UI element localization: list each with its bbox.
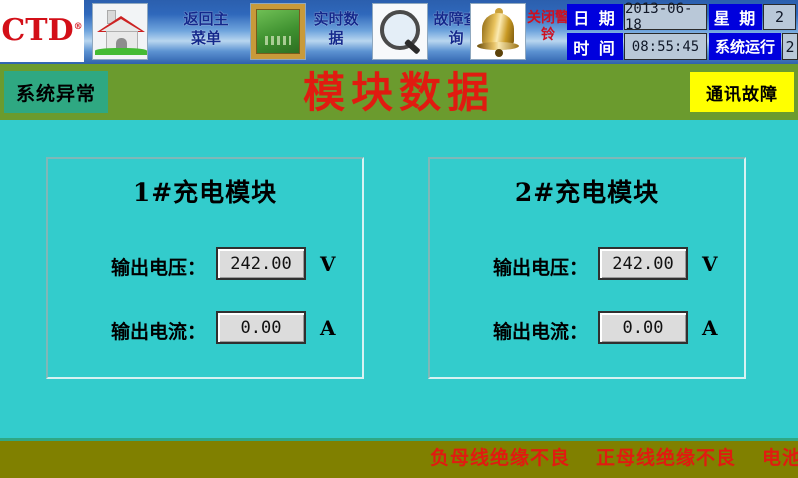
module-1-current-unit: A (320, 316, 336, 340)
logo-text: CTD® (1, 16, 82, 46)
module-1-current-value[interactable]: 0.00 (216, 311, 306, 344)
time-label: 时 间 (567, 33, 623, 60)
board-scribble (265, 36, 291, 45)
module-1-voltage-unit: V (320, 252, 336, 276)
module-2-current-unit: A (702, 316, 718, 340)
alarm-item: 电池 (762, 447, 798, 469)
module-2-voltage-label: 输出电压： (468, 253, 588, 280)
module-1-voltage-row: 输出电压： 242.00 V (48, 247, 362, 283)
module-1-voltage-value[interactable]: 242.00 (216, 247, 306, 280)
silence-alarm-label[interactable]: 关闭警铃 (524, 10, 572, 44)
date-value: 2013-06-18 (624, 4, 707, 30)
house-roof-inner (101, 19, 141, 31)
alarm-item: 负母线绝缘不良 (430, 447, 570, 469)
house-icon (93, 4, 147, 59)
home-button[interactable] (92, 3, 148, 60)
bell-icon (471, 4, 525, 59)
charger-module-1-panel: 1#充电模块 输出电压： 242.00 V 输出电流： 0.00 A (46, 157, 364, 379)
alarm-item: 正母线绝缘不良 (596, 447, 736, 469)
grass-shape (95, 48, 147, 55)
title-bar: 系统异常 模块数据 通讯故障 (0, 64, 798, 120)
module-2-voltage-row: 输出电压： 242.00 V (430, 247, 744, 283)
module-2-voltage-value[interactable]: 242.00 (598, 247, 688, 280)
module-2-voltage-unit: V (702, 252, 718, 276)
fault-query-button[interactable] (372, 3, 428, 60)
content-area: 1#充电模块 输出电压： 242.00 V 输出电流： 0.00 A 2#充电模… (0, 120, 798, 438)
system-running-value: 2 (782, 33, 798, 60)
module-1-current-label: 输出电流： (86, 317, 206, 344)
comm-fault-badge: 通讯故障 (690, 72, 794, 112)
module-2-current-row: 输出电流： 0.00 A (430, 311, 744, 347)
module-2-current-value[interactable]: 0.00 (598, 311, 688, 344)
weekday-value: 2 (763, 4, 796, 30)
module-2-title: 2#充电模块 (430, 173, 744, 209)
return-main-menu-label[interactable]: 返回主菜单 (182, 10, 230, 48)
time-value: 08:55:45 (624, 33, 707, 60)
realtime-data-label[interactable]: 实时数据 (312, 10, 360, 48)
page-title: 模块数据 (0, 68, 798, 118)
bell-clapper (495, 49, 503, 57)
alarm-ticker-bar: 负母线绝缘不良正母线绝缘不良电池 (0, 441, 798, 478)
module-1-current-row: 输出电流： 0.00 A (48, 311, 362, 347)
system-running-label: 系统运行 (709, 33, 781, 60)
magnifier-icon (373, 4, 427, 59)
module-1-title: 1#充电模块 (48, 173, 362, 209)
module-2-current-label: 输出电流： (468, 317, 588, 344)
date-label: 日 期 (567, 4, 623, 30)
charger-module-2-panel: 2#充电模块 输出电压： 242.00 V 输出电流： 0.00 A (428, 157, 746, 379)
hmi-screen: CTD® 返回主菜单 实时数据 (0, 0, 798, 478)
brand-logo: CTD® (0, 0, 84, 62)
logo-label: CTD (1, 13, 73, 48)
module-1-voltage-label: 输出电压： (86, 253, 206, 280)
board-inner (256, 9, 300, 54)
alarm-bell-button[interactable] (470, 3, 526, 60)
registered-mark: ® (74, 22, 83, 32)
board-icon (251, 4, 305, 59)
realtime-data-button[interactable] (250, 3, 306, 60)
weekday-label: 星 期 (709, 4, 762, 30)
bell-dome (482, 13, 514, 45)
alarm-ticker-text: 负母线绝缘不良正母线绝缘不良电池 (430, 445, 798, 471)
toolbar: CTD® 返回主菜单 实时数据 (0, 0, 798, 64)
